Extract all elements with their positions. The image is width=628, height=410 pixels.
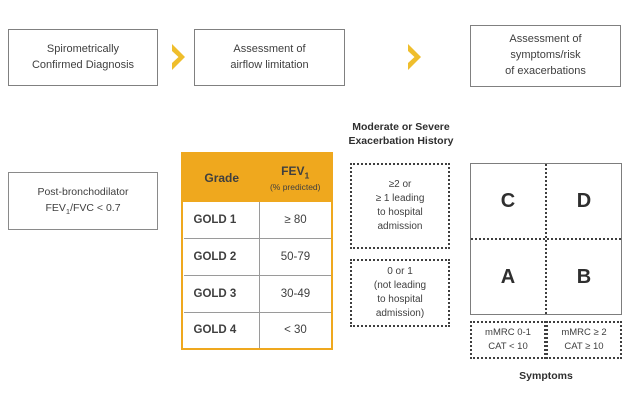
quadrant-cell-d: D [547, 164, 621, 238]
table-row: GOLD 4 < 30 [184, 312, 331, 348]
exacerbation-high-l3: to hospital [377, 207, 423, 218]
flow-step-1-box: Spirometrically Confirmed Diagnosis [8, 29, 158, 86]
symptoms-axis-label: Symptoms [470, 370, 622, 382]
grade-label-1: GOLD 1 [184, 202, 260, 239]
chevron-right-icon-1 [164, 40, 192, 74]
exacerbation-high-l1: ≥2 or [389, 179, 412, 190]
quadrant-cell-a: A [471, 240, 545, 314]
flow-step-2-box: Assessment of airflow limitation [194, 29, 345, 86]
fev1-main: FEV [281, 164, 304, 178]
exacerbation-history-heading: Moderate or Severe Exacerbation History [336, 120, 466, 148]
flow-step-1-line2: Confirmed Diagnosis [32, 59, 134, 71]
criteria-line2: FEV1/FVC < 0.7 [45, 202, 120, 214]
fev1-subscript: 1 [304, 171, 309, 181]
grade-value-1: ≥ 80 [260, 202, 331, 239]
exacerbation-high-l2: ≥ 1 leading [376, 193, 425, 204]
flow-step-3-box: Assessment of symptoms/risk of exacerbat… [470, 25, 621, 87]
criteria-line1: Post-bronchodilator [37, 186, 128, 198]
grade-label-2: GOLD 2 [184, 238, 260, 275]
symptoms-high-box: mMRC ≥ 2 CAT ≥ 10 [546, 321, 622, 359]
table-row: GOLD 3 30-49 [184, 275, 331, 312]
flow-step-3-line3: of exacerbations [505, 65, 586, 77]
grade-label-3: GOLD 3 [184, 275, 260, 312]
diagram-canvas: Spirometrically Confirmed Diagnosis Asse… [0, 0, 628, 410]
spirometry-criteria-box: Post-bronchodilator FEV1/FVC < 0.7 [8, 172, 158, 230]
quadrant-cell-c: C [471, 164, 545, 238]
symptoms-low-box: mMRC 0-1 CAT < 10 [470, 321, 546, 359]
symptoms-low-l1: mMRC 0-1 [485, 327, 531, 338]
grade-label-4: GOLD 4 [184, 312, 260, 348]
flow-step-3-line1: Assessment of [509, 33, 581, 45]
criteria-fvc-ratio: /FVC < 0.7 [70, 202, 120, 214]
fev1-note: (% predicted) [260, 182, 330, 192]
exacerbation-heading-line1: Moderate or Severe [352, 121, 449, 133]
flow-step-2-line2: airflow limitation [230, 59, 308, 71]
table-row: GOLD 2 50-79 [184, 238, 331, 275]
exacerbation-low-l3: to hospital [377, 294, 423, 305]
flow-step-2-line1: Assessment of [233, 43, 305, 55]
exacerbation-low-l2: (not leading [374, 280, 426, 291]
symptoms-high-l2: CAT ≥ 10 [564, 341, 603, 352]
table-header-fev1: FEV1 (% predicted) [260, 155, 331, 202]
grade-value-4: < 30 [260, 312, 331, 348]
gold-grade-table: Grade FEV1 (% predicted) GOLD 1 ≥ 80 GOL… [181, 152, 333, 350]
exacerbation-heading-line2: Exacerbation History [348, 135, 453, 147]
chevron-right-icon-2 [400, 40, 428, 74]
exacerbation-high-l4: admission [377, 221, 422, 232]
quadrant-cell-b: B [547, 240, 621, 314]
table-header-row: Grade FEV1 (% predicted) [184, 155, 331, 202]
exacerbation-high-risk-box: ≥2 or ≥ 1 leading to hospital admission [350, 163, 450, 249]
abcd-quadrant-grid: C D A B [470, 163, 622, 315]
exacerbation-low-risk-box: 0 or 1 (not leading to hospital admissio… [350, 259, 450, 327]
exacerbation-low-l1: 0 or 1 [387, 266, 413, 277]
table-header-grade: Grade [184, 155, 260, 202]
symptoms-low-l2: CAT < 10 [488, 341, 528, 352]
table-row: GOLD 1 ≥ 80 [184, 202, 331, 239]
flow-step-3-line2: symptoms/risk [510, 49, 580, 61]
grade-value-2: 50-79 [260, 238, 331, 275]
criteria-fev-label: FEV [45, 202, 65, 214]
grade-value-3: 30-49 [260, 275, 331, 312]
flow-step-1-line1: Spirometrically [47, 43, 119, 55]
exacerbation-low-l4: admission) [376, 308, 424, 319]
symptoms-high-l1: mMRC ≥ 2 [561, 327, 606, 338]
